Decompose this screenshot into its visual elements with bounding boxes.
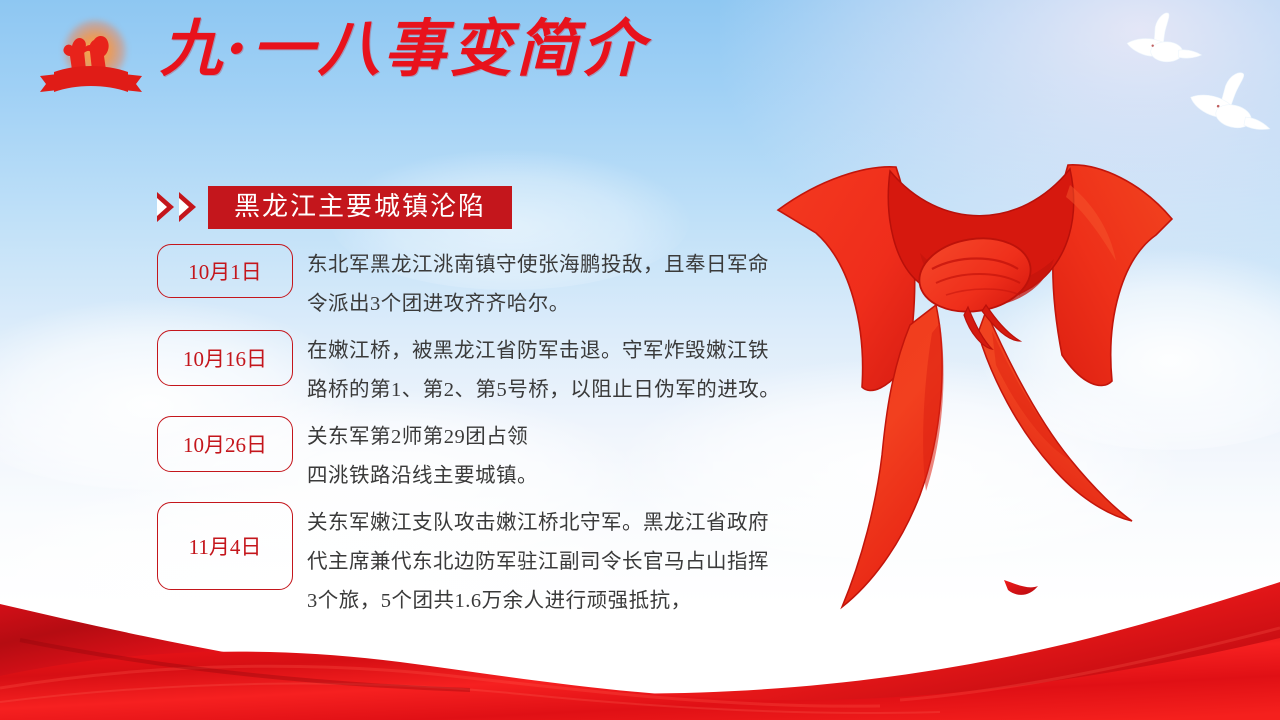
timeline-date-badge: 10月16日: [157, 330, 293, 386]
timeline-text-line: 关东军第2师第29团占领: [307, 418, 797, 457]
slide-canvas: 九·一八事变简介 黑龙江主要城镇沦陷 10月1日 东北军黑龙江洮南镇守使张海鹏投…: [0, 0, 1280, 720]
section-header: 黑龙江主要城镇沦陷: [157, 184, 512, 230]
timeline-row: 10月16日 在嫩江桥，被黑龙江省防军击退。守军炸毁嫩江铁 路桥的第1、第2、第…: [157, 330, 797, 410]
red-banner-emblem: [28, 18, 154, 104]
chevron-right-icon: [157, 192, 174, 222]
timeline-list: 10月1日 东北军黑龙江洮南镇守使张海鹏投敌，且奉日军命 令派出3个团进攻齐齐哈…: [157, 244, 797, 627]
timeline-description: 在嫩江桥，被黑龙江省防军击退。守军炸毁嫩江铁 路桥的第1、第2、第5号桥，以阻止…: [307, 330, 797, 410]
timeline-text-line: 东北军黑龙江洮南镇守使张海鹏投敌，且奉日军命: [307, 246, 797, 285]
double-chevron-right-icon: [157, 192, 196, 222]
page-title: 九·一八事变简介: [160, 18, 648, 80]
timeline-row: 10月26日 关东军第2师第29团占领 四洮铁路沿线主要城镇。: [157, 416, 797, 496]
timeline-row: 11月4日 关东军嫩江支队攻击嫩江桥北守军。黑龙江省政府 代主席兼代东北边防军驻…: [157, 502, 797, 621]
timeline-text-line: 代主席兼代东北边防军驻江副司令长官马占山指挥: [307, 543, 797, 582]
section-banner-label: 黑龙江主要城镇沦陷: [208, 186, 512, 229]
timeline-description: 关东军第2师第29团占领 四洮铁路沿线主要城镇。: [307, 416, 797, 496]
timeline-text-line: 3个旅，5个团共1.6万余人进行顽强抵抗，: [307, 582, 797, 621]
timeline-row: 10月1日 东北军黑龙江洮南镇守使张海鹏投敌，且奉日军命 令派出3个团进攻齐齐哈…: [157, 244, 797, 324]
timeline-text-line: 四洮铁路沿线主要城镇。: [307, 457, 797, 496]
emblem-figures-icon: [28, 18, 154, 104]
timeline-text-line: 路桥的第1、第2、第5号桥，以阻止日伪军的进攻。: [307, 371, 797, 410]
timeline-description: 关东军嫩江支队攻击嫩江桥北守军。黑龙江省政府 代主席兼代东北边防军驻江副司令长官…: [307, 502, 797, 621]
timeline-description: 东北军黑龙江洮南镇守使张海鹏投敌，且奉日军命 令派出3个团进攻齐齐哈尔。: [307, 244, 797, 324]
timeline-text-line: 在嫩江桥，被黑龙江省防军击退。守军炸毁嫩江铁: [307, 332, 797, 371]
timeline-date-badge: 10月1日: [157, 244, 293, 298]
chevron-right-icon: [179, 192, 196, 222]
timeline-date-badge: 10月26日: [157, 416, 293, 472]
timeline-text-line: 关东军嫩江支队攻击嫩江桥北守军。黑龙江省政府: [307, 504, 797, 543]
timeline-text-line: 令派出3个团进攻齐齐哈尔。: [307, 285, 797, 324]
timeline-date-badge: 11月4日: [157, 502, 293, 590]
